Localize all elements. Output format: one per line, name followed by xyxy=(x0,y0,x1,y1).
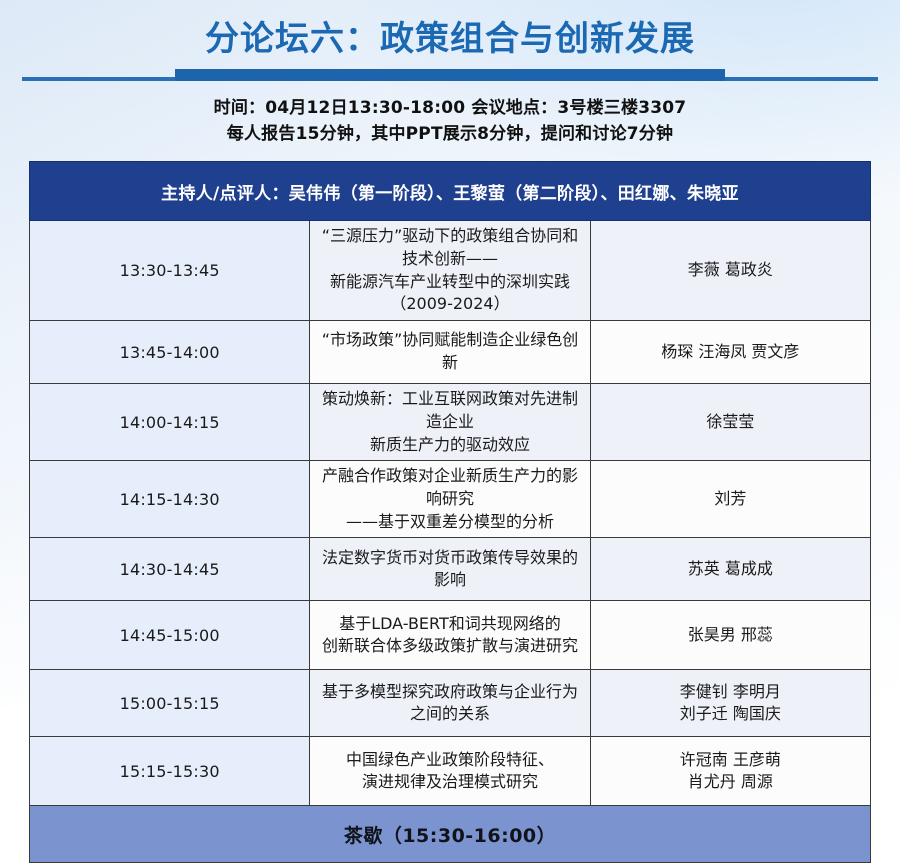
cell-time: 15:15-15:30 xyxy=(30,737,310,806)
divider-center-bar xyxy=(175,69,725,81)
cell-time: 13:30-13:45 xyxy=(30,221,310,321)
topic-line: 新能源汽车产业转型中的深圳实践（2009-2024） xyxy=(316,271,583,316)
cell-authors: 徐莹莹 xyxy=(590,384,870,461)
table-row: 15:00-15:15 基于多模型探究政府政策与企业行为之间的关系 李健钊 李明… xyxy=(30,670,871,737)
cell-time: 14:15-14:30 xyxy=(30,461,310,538)
cell-topic: 基于多模型探究政府政策与企业行为之间的关系 xyxy=(310,670,590,737)
table-row: 14:15-14:30 产融合作政策对企业新质生产力的影响研究 ——基于双重差分… xyxy=(30,461,871,538)
topic-line: 基于多模型探究政府政策与企业行为之间的关系 xyxy=(316,681,583,726)
cell-topic: 策动焕新：工业互联网政策对先进制造企业 新质生产力的驱动效应 xyxy=(310,384,590,461)
cell-authors: 李健钊 李明月 刘子迁 陶国庆 xyxy=(590,670,870,737)
topic-line: ——基于双重差分模型的分析 xyxy=(316,511,583,534)
topic-line: 中国绿色产业政策阶段特征、 xyxy=(316,749,583,772)
cell-topic: “三源压力”驱动下的政策组合协同和技术创新—— 新能源汽车产业转型中的深圳实践（… xyxy=(310,221,590,321)
authors-line: 刘子迁 陶国庆 xyxy=(597,703,864,726)
topic-line: 创新联合体多级政策扩散与演进研究 xyxy=(316,635,583,658)
authors-line: 张昊男 邢蕊 xyxy=(597,624,864,647)
table-row: 13:30-13:45 “三源压力”驱动下的政策组合协同和技术创新—— 新能源汽… xyxy=(30,221,871,321)
authors-line: 李薇 葛政炎 xyxy=(597,259,864,282)
cell-time: 14:45-15:00 xyxy=(30,601,310,670)
cell-authors: 许冠南 王彦萌 肖尤丹 周源 xyxy=(590,737,870,806)
cell-topic: 基于LDA-BERT和词共现网络的 创新联合体多级政策扩散与演进研究 xyxy=(310,601,590,670)
authors-line: 苏英 葛成成 xyxy=(597,558,864,581)
title-block: 分论坛六：政策组合与创新发展 xyxy=(0,0,900,61)
cell-topic: 产融合作政策对企业新质生产力的影响研究 ——基于双重差分模型的分析 xyxy=(310,461,590,538)
cell-topic: “市场政策”协同赋能制造企业绿色创新 xyxy=(310,321,590,384)
cell-authors: 杨琛 汪海凤 贾文彦 xyxy=(590,321,870,384)
cell-authors: 张昊男 邢蕊 xyxy=(590,601,870,670)
cell-time: 15:00-15:15 xyxy=(30,670,310,737)
title-divider xyxy=(0,69,900,83)
cell-authors: 李薇 葛政炎 xyxy=(590,221,870,321)
slide-canvas: 分论坛六：政策组合与创新发展 时间：04月12日13:30-18:00 会议地点… xyxy=(0,0,900,706)
table-row: 13:45-14:00 “市场政策”协同赋能制造企业绿色创新 杨琛 汪海凤 贾文… xyxy=(30,321,871,384)
page-title: 分论坛六：政策组合与创新发展 xyxy=(205,18,695,61)
cell-time: 14:30-14:45 xyxy=(30,538,310,601)
topic-line: 演进规律及治理模式研究 xyxy=(316,771,583,794)
table-header-row: 主持人/点评人：吴伟伟（第一阶段）、王黎萤（第二阶段）、田红娜、朱晓亚 xyxy=(30,162,871,221)
tea-break-row: 茶歇（15:30-16:00） xyxy=(30,806,871,863)
cell-topic: 法定数字货币对货币政策传导效果的影响 xyxy=(310,538,590,601)
topic-line: 新质生产力的驱动效应 xyxy=(316,434,583,457)
table-row: 14:45-15:00 基于LDA-BERT和词共现网络的 创新联合体多级政策扩… xyxy=(30,601,871,670)
table-row: 14:30-14:45 法定数字货币对货币政策传导效果的影响 苏英 葛成成 xyxy=(30,538,871,601)
table-row: 14:00-14:15 策动焕新：工业互联网政策对先进制造企业 新质生产力的驱动… xyxy=(30,384,871,461)
topic-line: “市场政策”协同赋能制造企业绿色创新 xyxy=(316,329,583,374)
topic-line: “三源压力”驱动下的政策组合协同和技术创新—— xyxy=(316,225,583,270)
cell-topic: 中国绿色产业政策阶段特征、 演进规律及治理模式研究 xyxy=(310,737,590,806)
cell-time: 14:00-14:15 xyxy=(30,384,310,461)
schedule-table-wrap: 主持人/点评人：吴伟伟（第一阶段）、王黎萤（第二阶段）、田红娜、朱晓亚 13:3… xyxy=(29,161,871,863)
authors-line: 杨琛 汪海凤 贾文彦 xyxy=(597,341,864,364)
table-row: 15:15-15:30 中国绿色产业政策阶段特征、 演进规律及治理模式研究 许冠… xyxy=(30,737,871,806)
session-meta: 时间：04月12日13:30-18:00 会议地点：3号楼三楼3307 每人报告… xyxy=(0,95,900,148)
schedule-table: 主持人/点评人：吴伟伟（第一阶段）、王黎萤（第二阶段）、田红娜、朱晓亚 13:3… xyxy=(29,161,871,863)
topic-line: 产融合作政策对企业新质生产力的影响研究 xyxy=(316,465,583,510)
meta-talk-format: 每人报告15分钟，其中PPT展示8分钟，提问和讨论7分钟 xyxy=(0,121,900,147)
authors-line: 肖尤丹 周源 xyxy=(597,771,864,794)
authors-line: 刘芳 xyxy=(597,488,864,511)
authors-line: 徐莹莹 xyxy=(597,411,864,434)
cell-authors: 苏英 葛成成 xyxy=(590,538,870,601)
chair-header-cell: 主持人/点评人：吴伟伟（第一阶段）、王黎萤（第二阶段）、田红娜、朱晓亚 xyxy=(30,162,871,221)
cell-authors: 刘芳 xyxy=(590,461,870,538)
cell-time: 13:45-14:00 xyxy=(30,321,310,384)
tea-break-cell: 茶歇（15:30-16:00） xyxy=(30,806,871,863)
topic-line: 策动焕新：工业互联网政策对先进制造企业 xyxy=(316,388,583,433)
authors-line: 许冠南 王彦萌 xyxy=(597,749,864,772)
meta-time-location: 时间：04月12日13:30-18:00 会议地点：3号楼三楼3307 xyxy=(0,95,900,121)
authors-line: 李健钊 李明月 xyxy=(597,681,864,704)
topic-line: 基于LDA-BERT和词共现网络的 xyxy=(316,613,583,636)
topic-line: 法定数字货币对货币政策传导效果的影响 xyxy=(316,547,583,592)
